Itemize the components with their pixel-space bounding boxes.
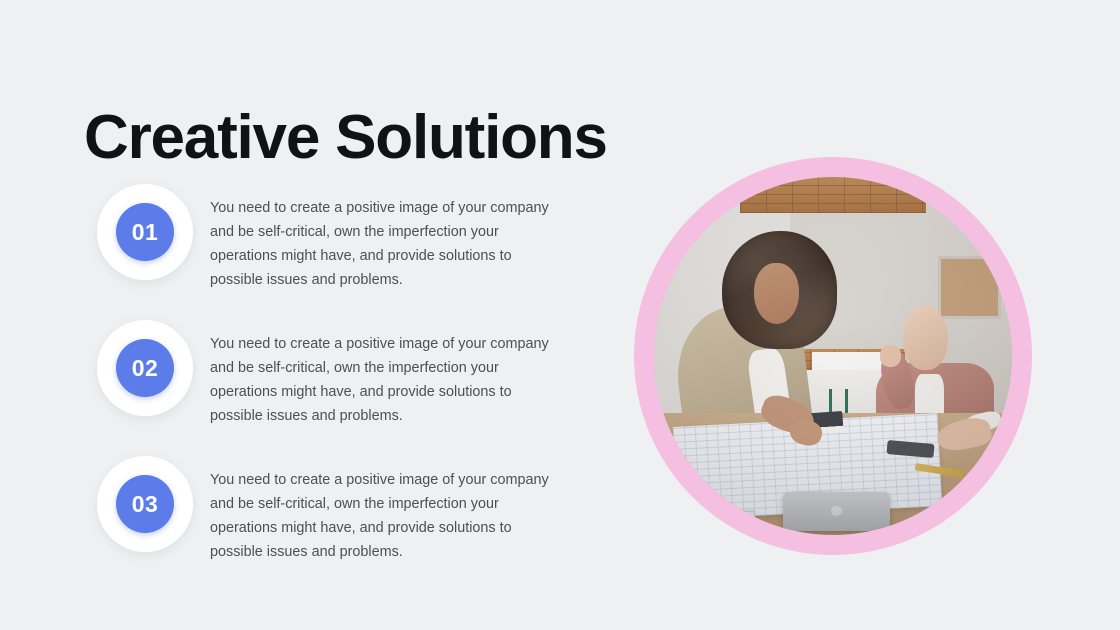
step-badge-inner: 03 (116, 475, 174, 533)
step-badge-01: 01 (97, 184, 193, 280)
scene-coffee-cup (668, 463, 689, 492)
step-number: 03 (132, 493, 159, 516)
step-number: 01 (132, 221, 159, 244)
step-number: 02 (132, 357, 159, 380)
step-badge-inner: 01 (116, 203, 174, 261)
scene-brick-top (740, 177, 926, 213)
person-seated-head (903, 306, 948, 370)
step-badge-inner: 02 (116, 339, 174, 397)
step-description: You need to create a positive image of y… (210, 332, 562, 428)
step-badge-02: 02 (97, 320, 193, 416)
step-description: You need to create a positive image of y… (210, 468, 562, 564)
circular-photo (654, 177, 1012, 535)
scene-wall-frame (938, 256, 1001, 319)
slide-root: Creative Solutions 01 You need to create… (0, 0, 1120, 630)
person-standing-face (754, 263, 799, 324)
list-item[interactable]: 02 You need to create a positive image o… (97, 320, 567, 416)
list-item[interactable]: 03 You need to create a positive image o… (97, 456, 567, 552)
photo-ring-frame (634, 157, 1032, 555)
scene-phone-light (714, 509, 757, 533)
step-badge-03: 03 (97, 456, 193, 552)
step-description: You need to create a positive image of y… (210, 196, 562, 292)
list-item[interactable]: 01 You need to create a positive image o… (97, 184, 567, 280)
steps-list: 01 You need to create a positive image o… (97, 184, 567, 552)
scene-laptop (783, 492, 890, 531)
page-title: Creative Solutions (84, 104, 607, 172)
photo-scene-illustration (654, 177, 1012, 535)
person-seated-hand (880, 345, 901, 366)
